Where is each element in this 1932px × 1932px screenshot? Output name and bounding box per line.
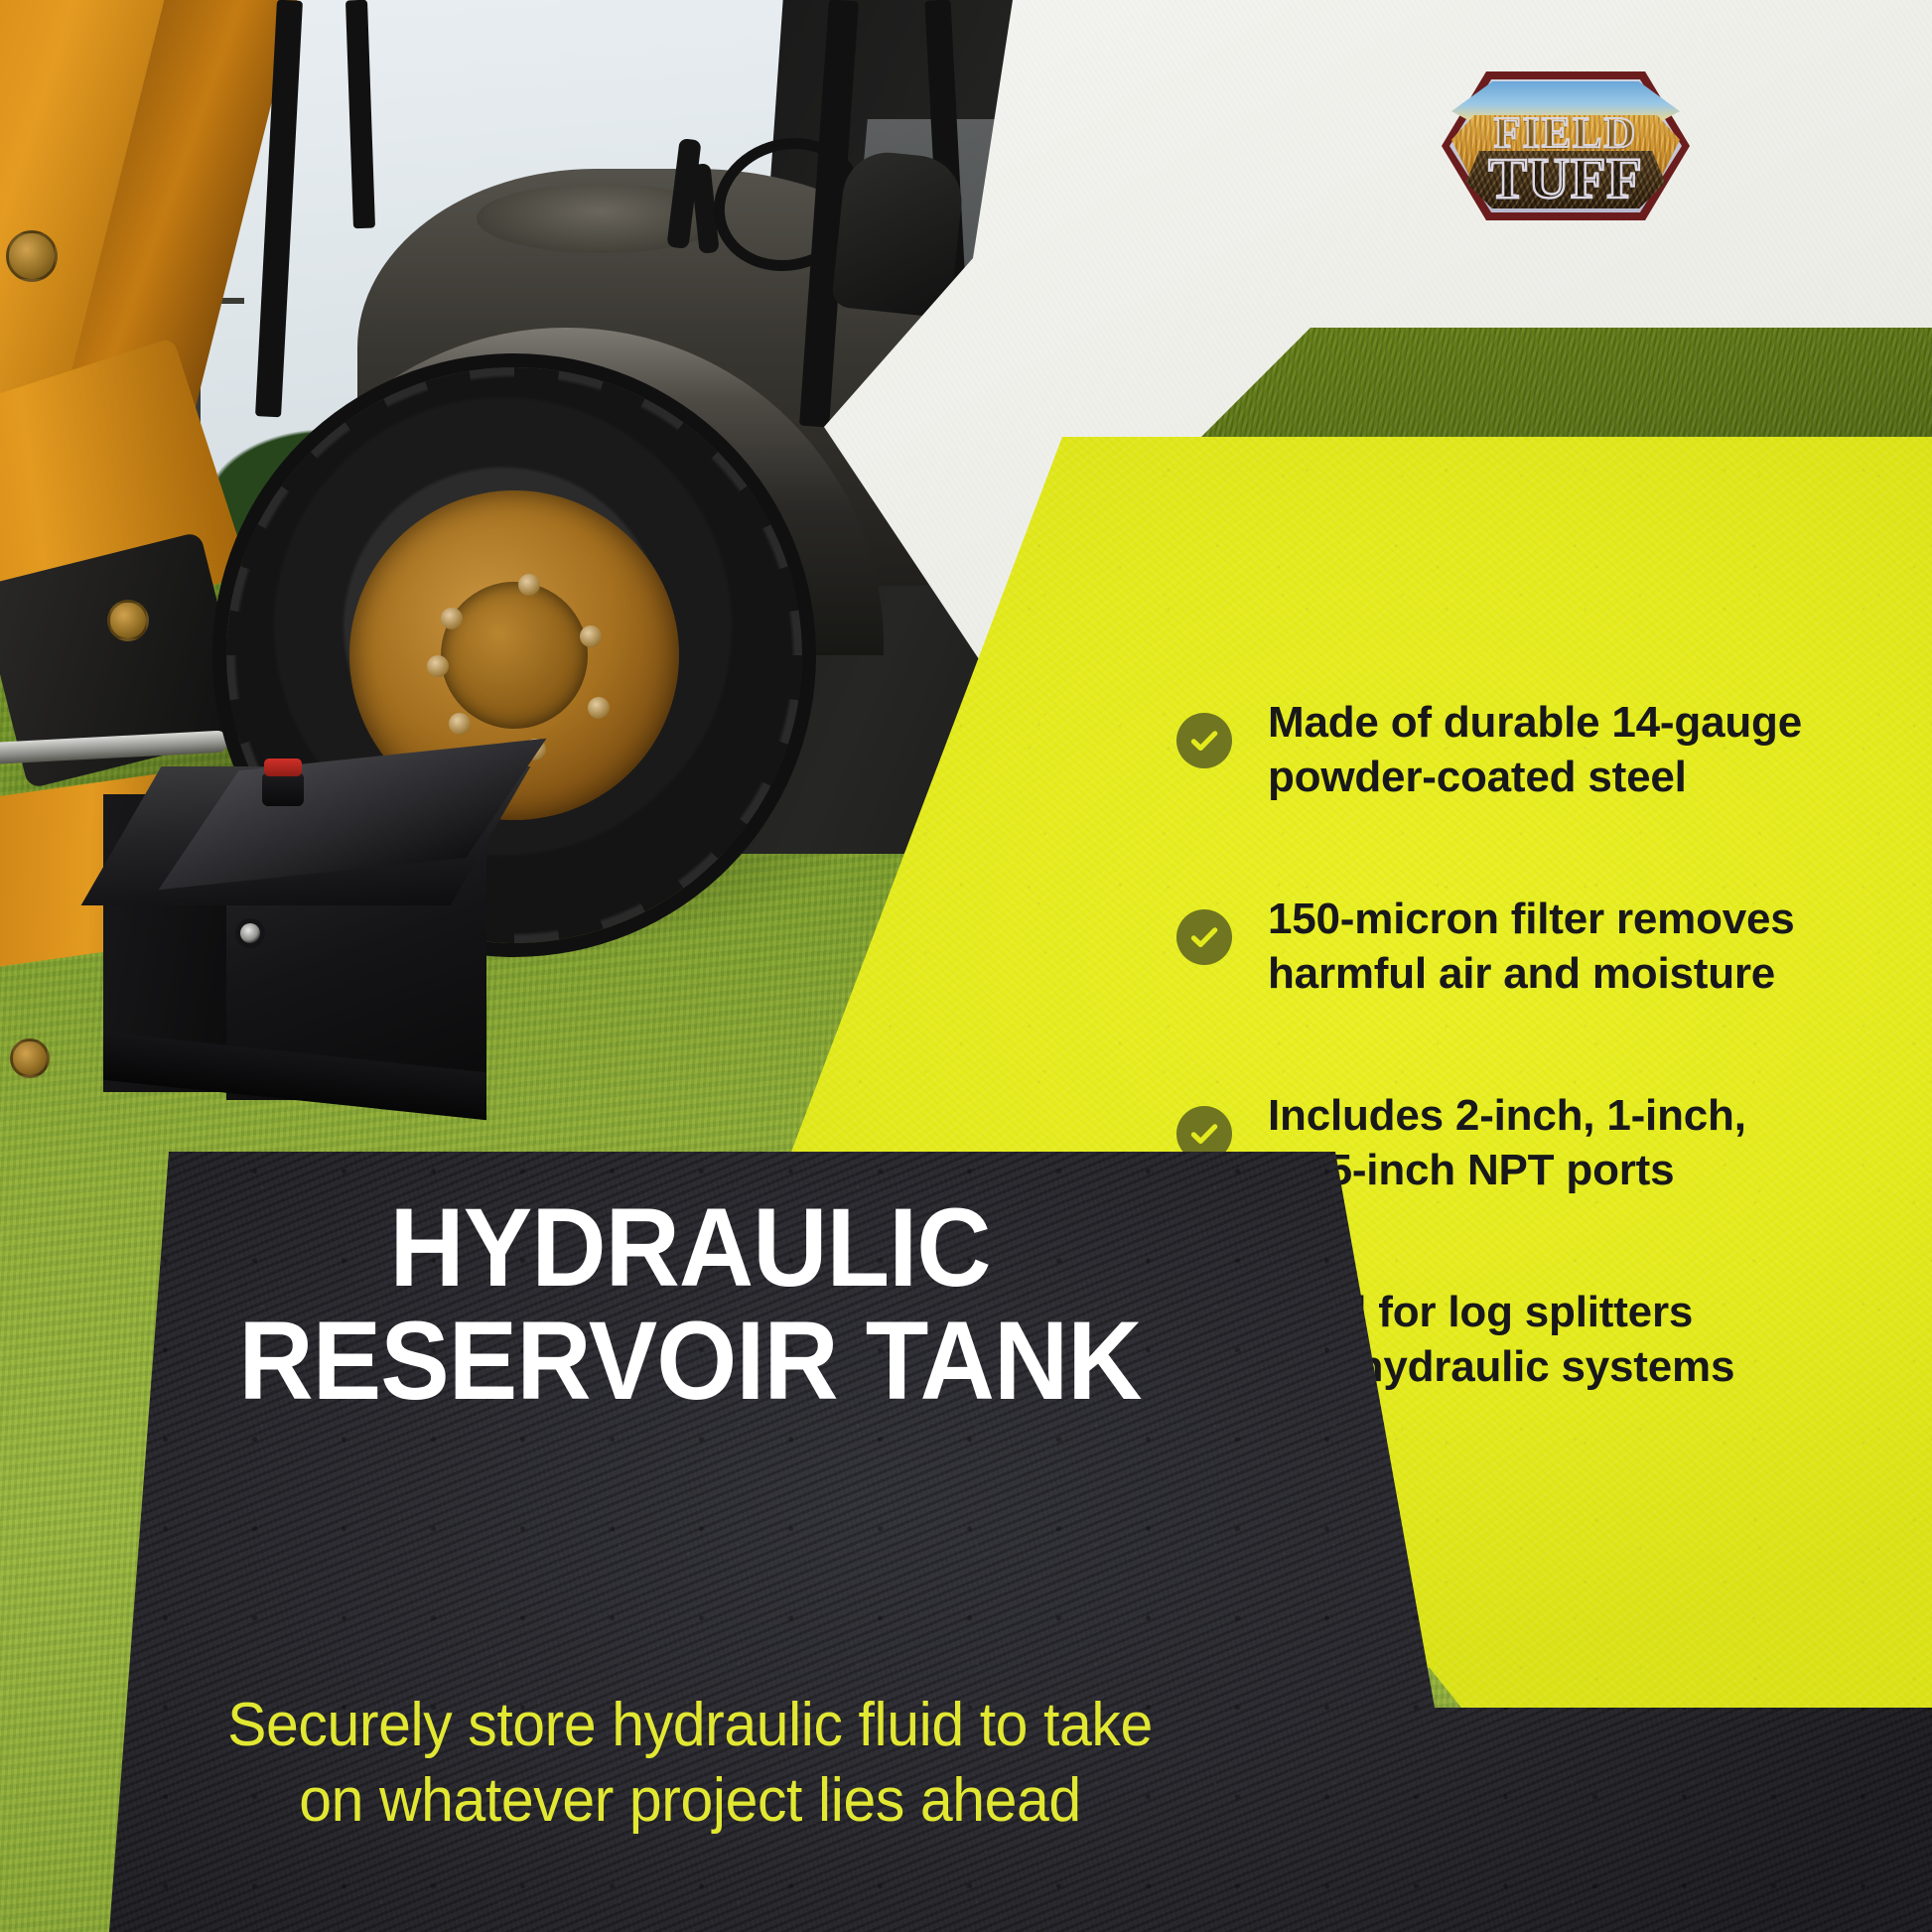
feature-line: harmful air and moisture (1268, 949, 1775, 998)
feature-line: powder-coated steel (1268, 753, 1687, 801)
feature-item: 150-micron filter removes harmful air an… (1176, 892, 1891, 1001)
check-icon (1176, 713, 1232, 768)
feature-line: Made of durable 14-gauge (1268, 698, 1802, 747)
pivot-bolt (107, 600, 149, 641)
feature-text: 150-micron filter removes harmful air an… (1268, 892, 1795, 1001)
lug-nut (441, 608, 463, 629)
check-icon (1176, 909, 1232, 965)
subtitle-line-1: Securely store hydraulic fluid to take (35, 1688, 1346, 1763)
lug-nut (518, 574, 540, 596)
wheel-hub (441, 582, 588, 729)
field-tuff-logo: FIELD TUFF (1442, 71, 1690, 220)
tank-cap-body (262, 772, 304, 806)
title-line-1: HYDRAULIC (49, 1191, 1332, 1305)
lug-nut (580, 625, 602, 647)
feature-text: Made of durable 14-gauge powder-coated s… (1268, 695, 1802, 804)
npt-port-fitting (240, 923, 260, 943)
feature-line: 150-micron filter removes (1268, 895, 1795, 943)
lug-nut (588, 697, 610, 719)
lug-nut (427, 655, 449, 677)
pivot-bolt (6, 230, 58, 282)
page-subtitle: Securely store hydraulic fluid to take o… (0, 1688, 1380, 1838)
feature-line: Includes 2-inch, 1-inch, (1268, 1091, 1746, 1140)
red-breather-cap-icon (264, 759, 302, 776)
feature-item: Made of durable 14-gauge powder-coated s… (1176, 695, 1891, 804)
product-infographic: Made of durable 14-gauge powder-coated s… (0, 0, 1932, 1932)
lug-nut (449, 713, 471, 735)
page-title: HYDRAULIC RESERVOIR TANK (0, 1191, 1380, 1418)
pivot-bolt (10, 1038, 50, 1078)
title-line-2: RESERVOIR TANK (49, 1305, 1332, 1418)
subtitle-line-2: on whatever project lies ahead (35, 1763, 1346, 1839)
logo-wordmark-tuff: TUFF (1442, 145, 1690, 211)
